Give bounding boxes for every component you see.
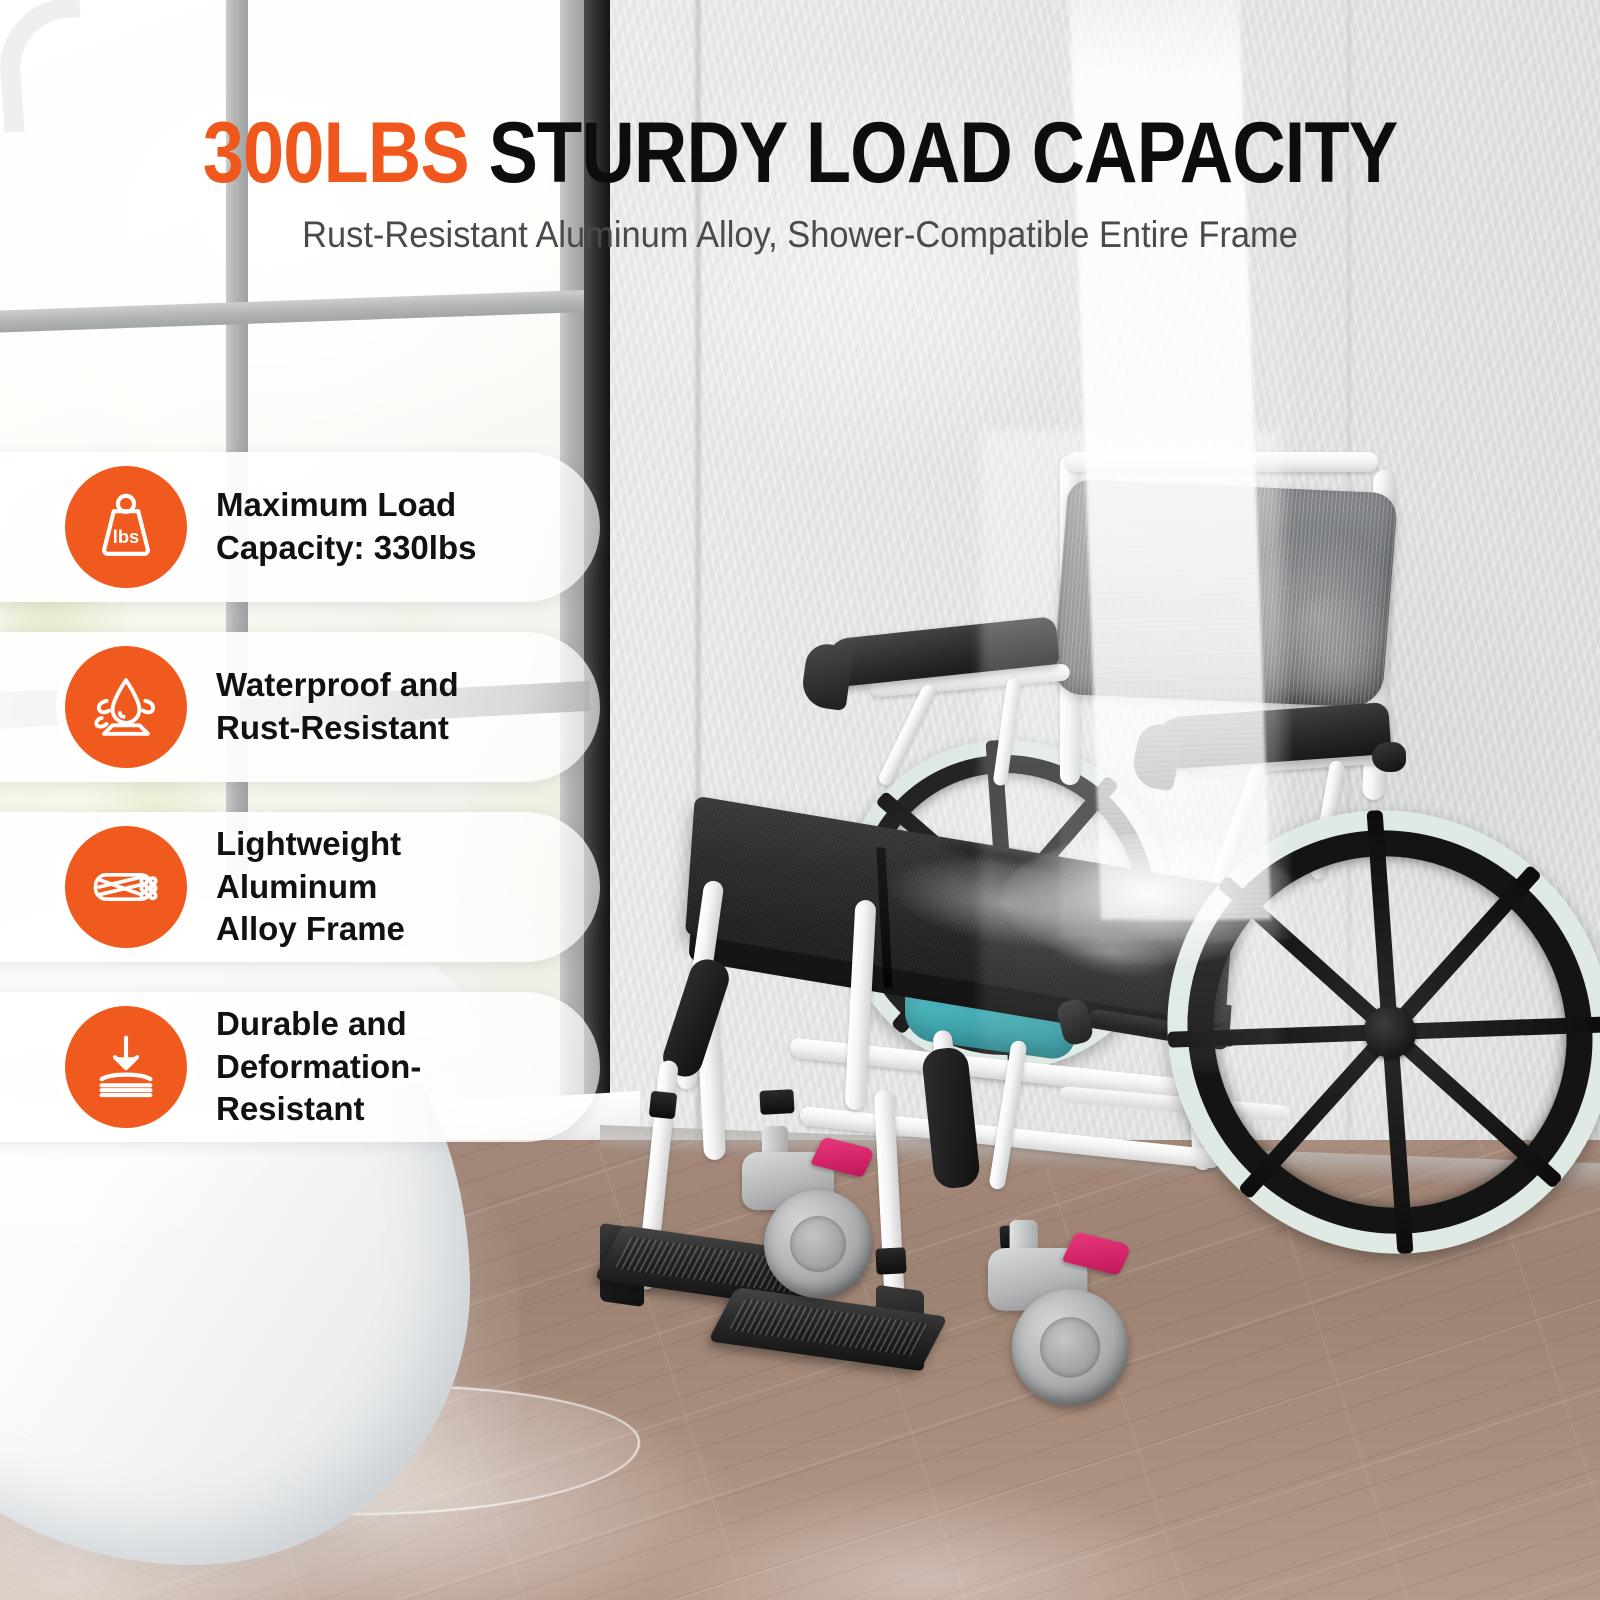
page-title: 300LBS STURDY LOAD CAPACITY	[112, 0, 1488, 198]
feature-text: Durable and Deformation-Resistant	[216, 1003, 560, 1132]
feature-text: Maximum Load Capacity: 330lbs	[216, 484, 560, 570]
feature-pill-durable[interactable]: Durable and Deformation-Resistant	[0, 992, 600, 1142]
svg-text:lbs: lbs	[113, 526, 139, 547]
leg-adjust-band-3	[875, 1247, 906, 1275]
compression-arrow-layers-icon	[65, 1006, 187, 1128]
caster-wheel	[1012, 1289, 1129, 1406]
aluminum-tubes-bundle-icon	[65, 826, 187, 948]
headline-block: 300LBS STURDY LOAD CAPACITY Rust-Resista…	[0, 0, 1600, 256]
leg-adjust-band-1	[649, 1091, 678, 1120]
feature-text: Waterproof and Rust-Resistant	[216, 664, 560, 750]
feature-line-1: Waterproof and	[216, 664, 560, 707]
headline-highlight: 300LBS	[203, 105, 469, 201]
feature-line-2: Capacity: 330lbs	[216, 527, 560, 570]
feature-line-1: Lightweight Aluminum	[216, 823, 560, 909]
feature-line-2: Rust-Resistant	[216, 707, 560, 750]
water-droplet-splash-icon	[65, 646, 187, 768]
page-subtitle: Rust-Resistant Aluminum Alloy, Shower-Co…	[56, 214, 1544, 256]
feature-text: Lightweight Aluminum Alloy Frame	[216, 823, 560, 952]
feature-line-1: Durable and	[216, 1003, 560, 1046]
caster-wheel	[764, 1190, 872, 1298]
leg-adjust-band-2	[759, 1089, 794, 1115]
weight-lbs-icon: lbs	[65, 466, 187, 588]
water-splash-on-seat	[1000, 835, 1300, 965]
feature-pill-waterproof[interactable]: Waterproof and Rust-Resistant	[0, 632, 600, 782]
headline-rest: STURDY LOAD CAPACITY	[469, 105, 1397, 201]
feature-line-2: Deformation-Resistant	[216, 1046, 560, 1132]
feature-pill-aluminum-frame[interactable]: Lightweight Aluminum Alloy Frame	[0, 812, 600, 962]
feature-pill-max-load[interactable]: lbs Maximum Load Capacity: 330lbs	[0, 452, 600, 602]
armrest-end-cap-right	[1372, 742, 1406, 772]
feature-line-2: Alloy Frame	[216, 908, 560, 951]
feature-line-1: Maximum Load	[216, 484, 560, 527]
